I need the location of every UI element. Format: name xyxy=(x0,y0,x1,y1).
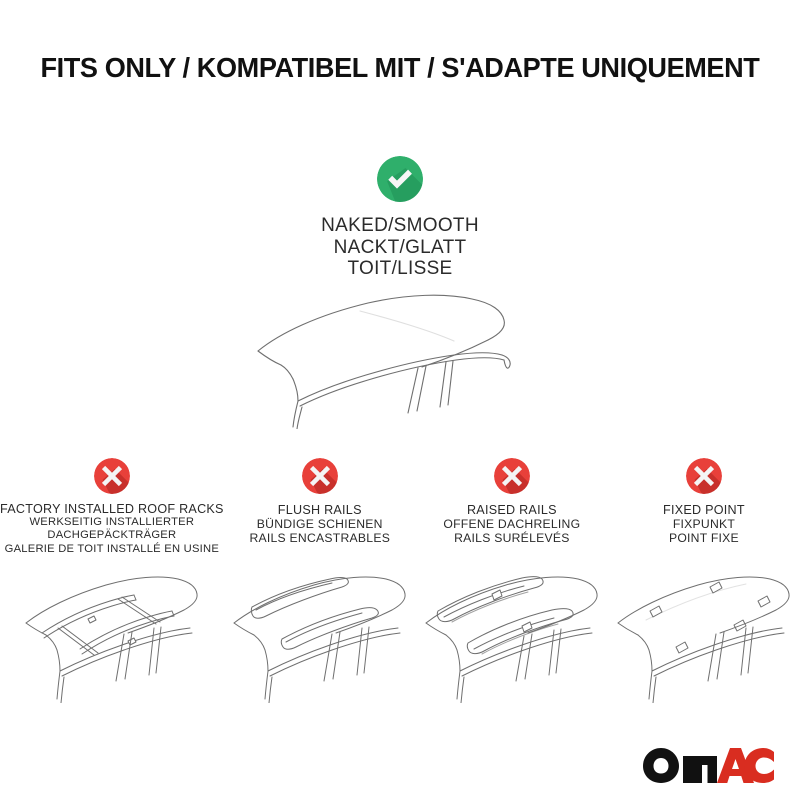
roof-type-label-line-3: RAILS SURÉLEVÉS xyxy=(443,531,580,545)
omac-logo xyxy=(642,744,782,786)
roof-type-label-group: FIXED POINT FIXPUNKT POINT FIXE xyxy=(663,503,745,546)
roof-type-label-line-1: FLUSH RAILS xyxy=(249,503,390,517)
roof-type-label-line-2: WERKSEITIG INSTALLIERTER xyxy=(0,516,224,529)
roof-type-label-line-2: BÜNDIGE SCHIENEN xyxy=(249,517,390,531)
approved-label-group: NAKED/SMOOTH NACKT/GLATT TOIT/LISSE xyxy=(321,215,479,280)
roof-type-label-line-2: FIXPUNKT xyxy=(663,517,745,531)
roof-type-label-line-1: RAISED RAILS xyxy=(443,503,580,517)
roof-type-label-group: FLUSH RAILS BÜNDIGE SCHIENEN RAILS ENCAS… xyxy=(249,503,390,546)
roof-type-raised-rails: RAISED RAILS OFFENE DACHRELING RAILS SUR… xyxy=(416,450,608,750)
car-roof-flush-rails-illustration xyxy=(222,553,418,703)
car-roof-naked-smooth-illustration xyxy=(240,289,560,429)
approved-label-line-2: NACKT/GLATT xyxy=(321,237,479,259)
roof-type-factory-installed-roof-racks: FACTORY INSTALLED ROOF RACKS WERKSEITIG … xyxy=(0,450,224,750)
roof-type-label-line-3: DACHGEPÄCKTRÄGER xyxy=(0,529,224,542)
roof-type-flush-rails: FLUSH RAILS BÜNDIGE SCHIENEN RAILS ENCAS… xyxy=(224,450,416,750)
incompatible-roof-types: FACTORY INSTALLED ROOF RACKS WERKSEITIG … xyxy=(0,450,800,750)
x-circle-icon xyxy=(94,458,130,494)
roof-type-label-line-2: OFFENE DACHRELING xyxy=(443,517,580,531)
roof-type-label-line-3: POINT FIXE xyxy=(663,531,745,545)
x-circle-icon xyxy=(494,458,530,494)
approved-roof-type: NAKED/SMOOTH NACKT/GLATT TOIT/LISSE xyxy=(0,156,800,280)
approved-label-line-3: TOIT/LISSE xyxy=(321,258,479,280)
car-roof-fixed-point-illustration xyxy=(606,553,800,703)
car-roof-factory-racks-illustration xyxy=(14,553,210,703)
roof-type-label-line-1: FACTORY INSTALLED ROOF RACKS xyxy=(0,503,224,516)
page-title: FITS ONLY / KOMPATIBEL MIT / S'ADAPTE UN… xyxy=(0,52,800,84)
roof-type-fixed-point: FIXED POINT FIXPUNKT POINT FIXE xyxy=(608,450,800,750)
roof-type-label-group: FACTORY INSTALLED ROOF RACKS WERKSEITIG … xyxy=(0,503,224,556)
x-circle-icon xyxy=(686,458,722,494)
x-circle-icon xyxy=(302,458,338,494)
page-title-text: FITS ONLY / KOMPATIBEL MIT / S'ADAPTE UN… xyxy=(41,52,760,84)
check-circle-icon xyxy=(377,156,423,202)
car-roof-raised-rails-illustration xyxy=(414,553,610,703)
roof-type-label-line-1: FIXED POINT xyxy=(663,503,745,517)
roof-type-label-line-3: RAILS ENCASTRABLES xyxy=(249,531,390,545)
roof-type-label-group: RAISED RAILS OFFENE DACHRELING RAILS SUR… xyxy=(443,503,580,546)
approved-label-line-1: NAKED/SMOOTH xyxy=(321,215,479,237)
